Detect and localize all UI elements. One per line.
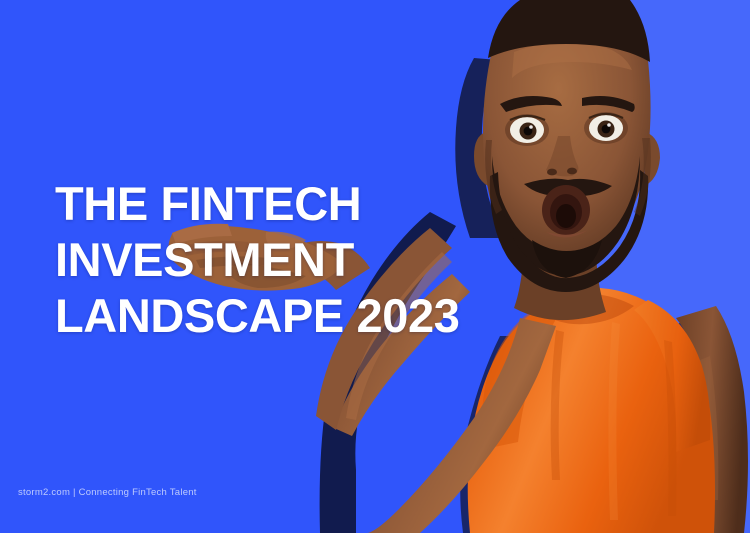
headline-line-1: THE FINTECH [55, 176, 615, 232]
headline-line-2: INVESTMENT [55, 232, 615, 288]
headline: THE FINTECH INVESTMENT LANDSCAPE 2023 [55, 176, 615, 344]
headline-line-3: LANDSCAPE 2023 [55, 288, 615, 344]
title-slide: THE FINTECH INVESTMENT LANDSCAPE 2023 st… [0, 0, 750, 533]
footer: storm2.com | Connecting FinTech Talent [18, 482, 197, 500]
footer-brand-tagline: storm2.com | Connecting FinTech Talent [18, 487, 197, 498]
